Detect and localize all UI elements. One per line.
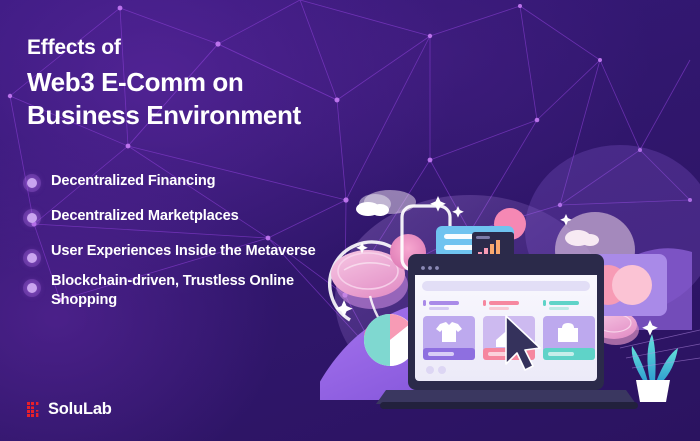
list-item-label: Blockchain-driven, Trustless Online Shop… (51, 272, 357, 310)
slide-canvas: Effects of Web3 E-Comm on Business Envir… (0, 0, 700, 441)
list-item-label: User Experiences Inside the Metaverse (51, 242, 316, 261)
bullet-dot-icon (27, 242, 51, 263)
web3-ecommerce-illustration (320, 0, 700, 441)
page-title: Web3 E-Comm on Business Environment (27, 66, 301, 132)
bullet-dot-icon (27, 172, 51, 193)
product-card-bag (543, 316, 595, 360)
potted-plant (632, 334, 678, 402)
search-field (422, 281, 590, 291)
brand-name: SoluLab (48, 400, 112, 419)
headline-line-1: Web3 E-Comm on (27, 66, 301, 99)
bullet-list: Decentralized Financing Decentralized Ma… (27, 172, 357, 324)
product-card-tshirt (423, 316, 475, 360)
card-labels (423, 300, 579, 310)
bullet-dot-icon (27, 272, 51, 293)
kicker-text: Effects of (27, 36, 121, 60)
list-item: Blockchain-driven, Trustless Online Shop… (27, 272, 357, 310)
list-item: Decentralized Financing (27, 172, 357, 193)
text-column: Effects of Web3 E-Comm on Business Envir… (27, 0, 372, 441)
bullet-dot-icon (27, 207, 51, 228)
list-item: User Experiences Inside the Metaverse (27, 242, 357, 263)
headline-line-2: Business Environment (27, 99, 301, 132)
list-item: Decentralized Marketplaces (27, 207, 357, 228)
list-item-label: Decentralized Marketplaces (51, 207, 239, 226)
list-item-label: Decentralized Financing (51, 172, 215, 191)
browser-bar (415, 261, 597, 275)
solulab-pixel-mark-icon (27, 402, 42, 418)
brand-logo[interactable]: SoluLab (27, 400, 112, 419)
